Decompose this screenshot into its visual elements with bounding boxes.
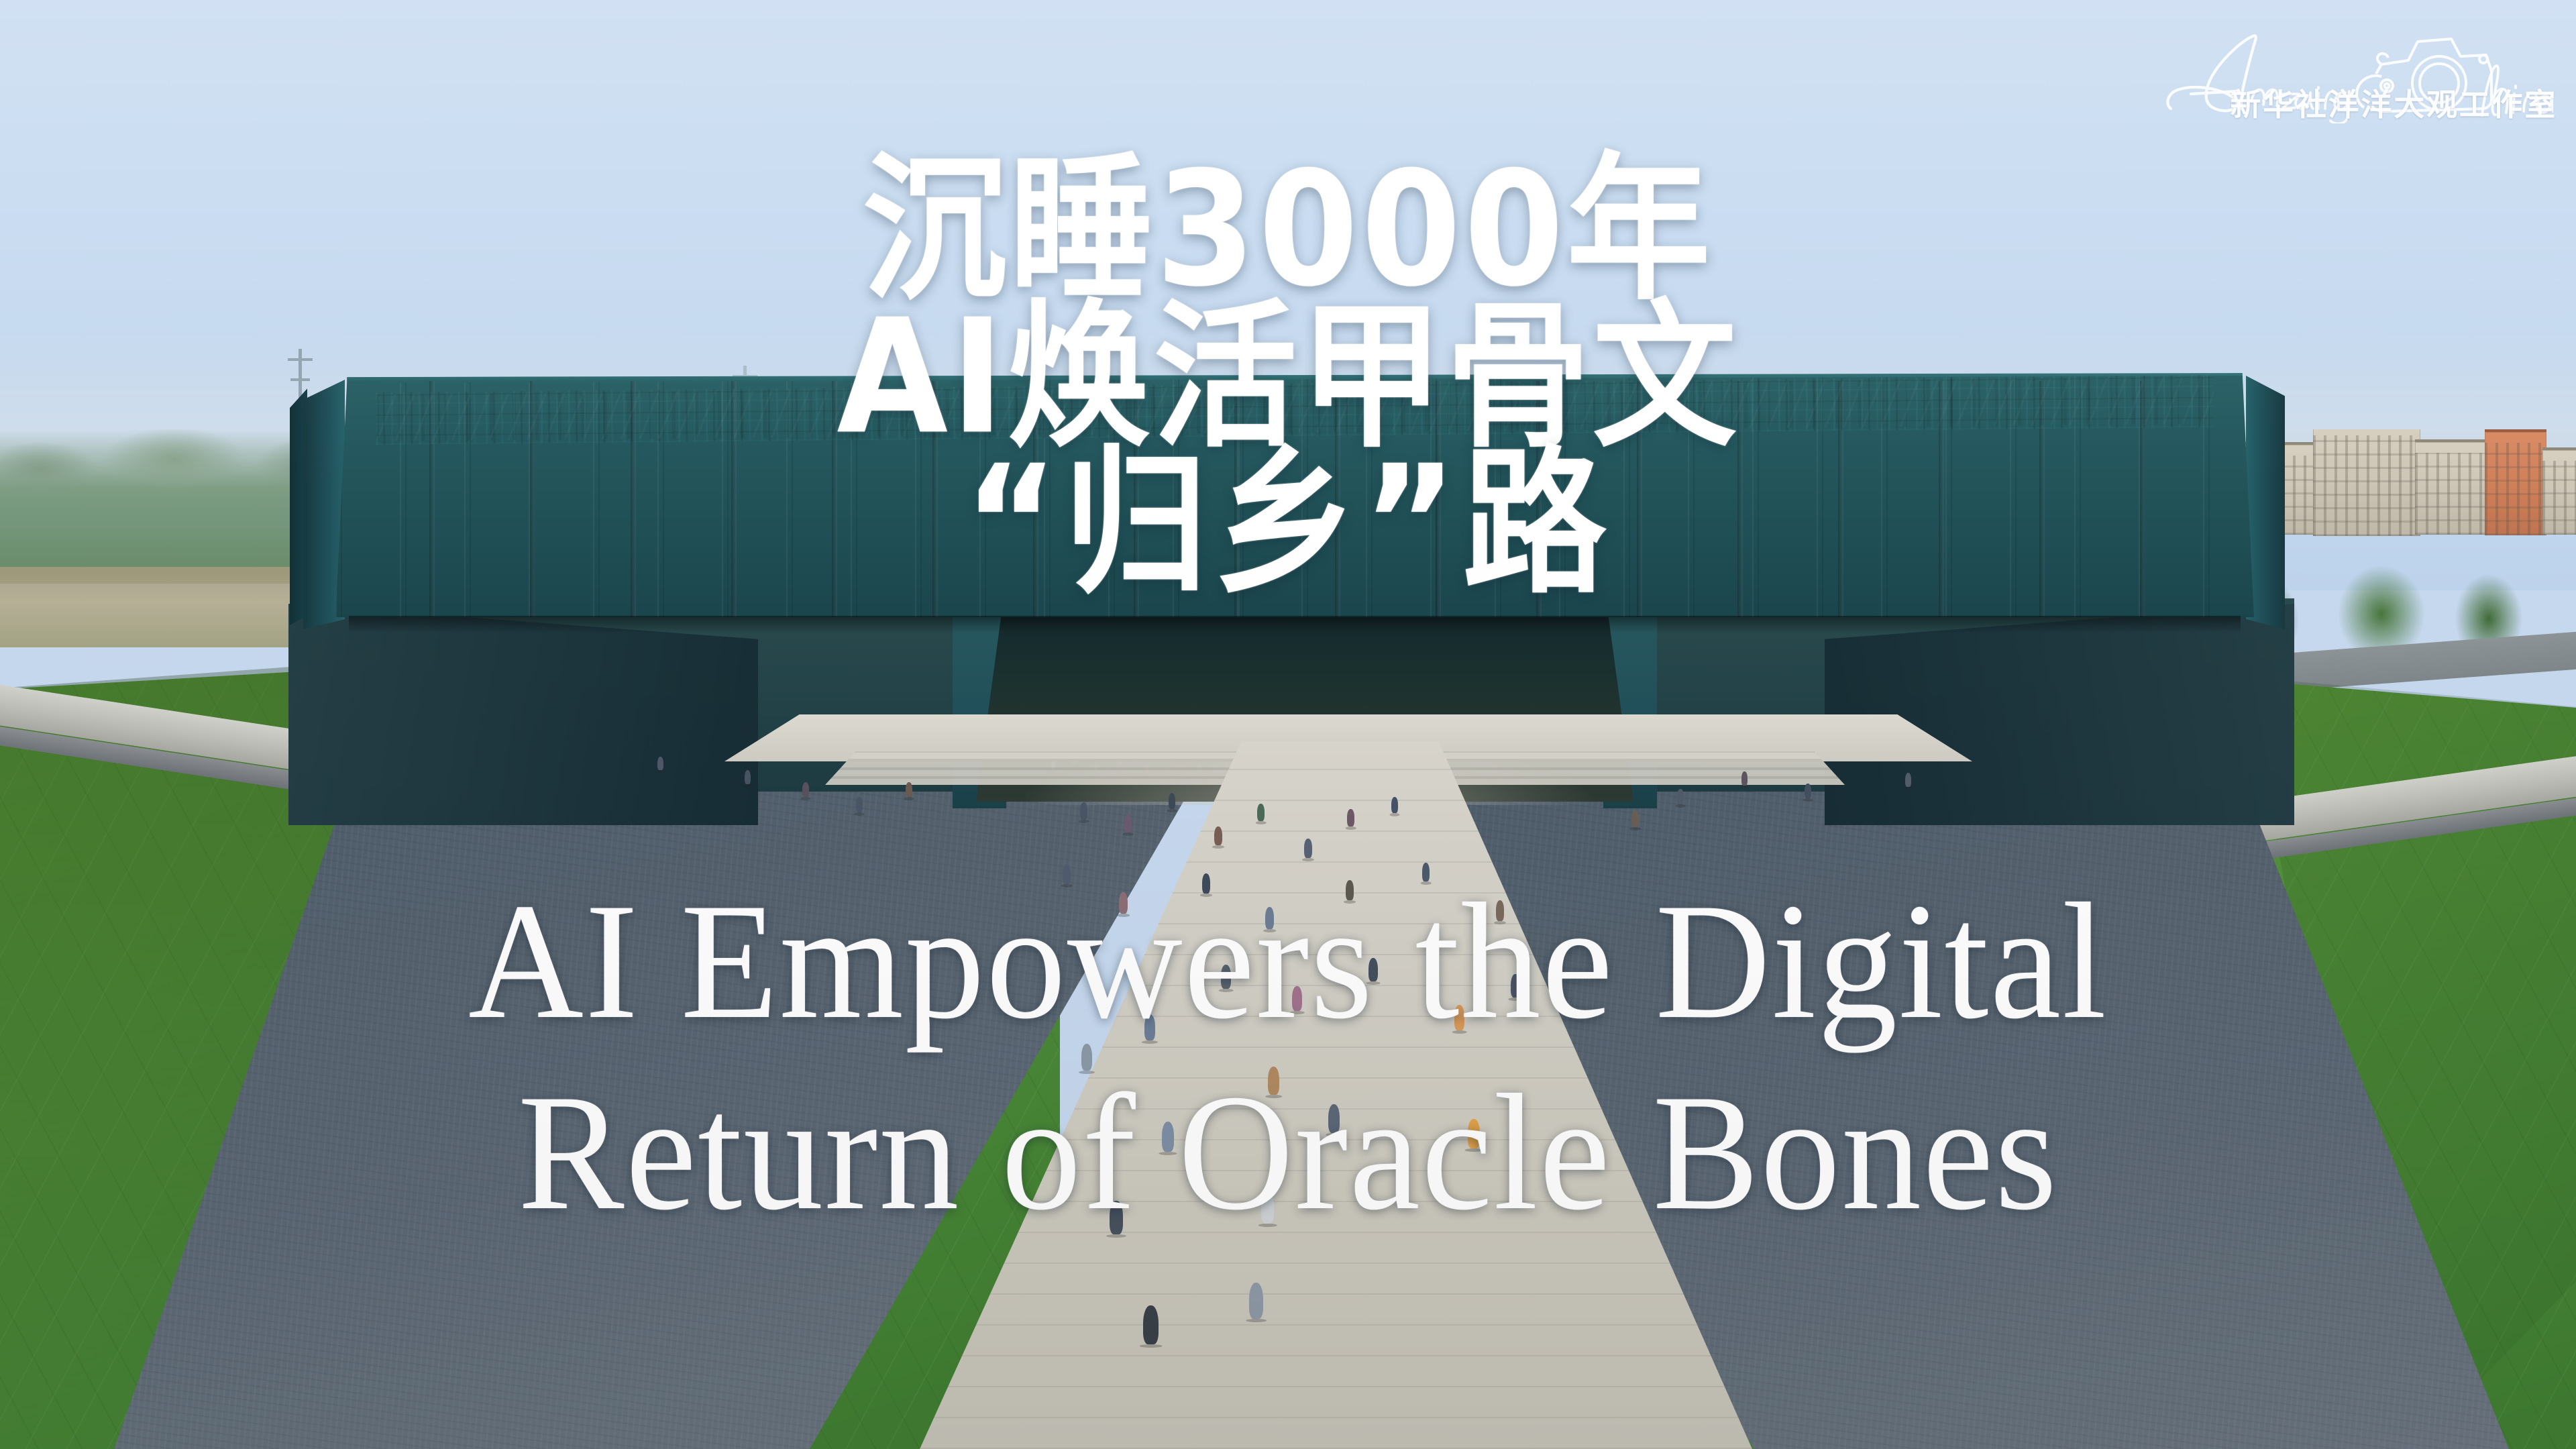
studio-name-label: 新华社洋洋大观工作室 xyxy=(2230,80,2557,125)
visitor xyxy=(1677,789,1684,804)
visitor xyxy=(1214,826,1222,845)
visitor xyxy=(657,757,663,770)
visitor xyxy=(1261,1191,1274,1224)
visitor xyxy=(1304,839,1312,858)
visitor xyxy=(1391,797,1398,813)
visitor xyxy=(1119,892,1128,914)
visitor xyxy=(1169,793,1175,809)
visitor xyxy=(1328,1104,1340,1133)
visitor xyxy=(1249,1283,1263,1319)
visitor xyxy=(1741,771,1748,786)
visitor xyxy=(1346,880,1354,900)
visitor xyxy=(1080,802,1087,820)
visitor xyxy=(1124,814,1132,833)
visitor xyxy=(1268,1067,1279,1095)
visitor xyxy=(1422,863,1430,881)
visitor xyxy=(1063,864,1071,884)
visitor xyxy=(906,782,912,797)
visitor xyxy=(1257,804,1265,821)
visitor xyxy=(1144,1014,1155,1040)
visitor xyxy=(802,782,809,797)
museum-wing-left xyxy=(288,604,758,825)
visitor xyxy=(745,770,751,784)
visitor xyxy=(1368,958,1378,981)
visitor xyxy=(1221,965,1231,989)
visitor xyxy=(856,797,863,812)
visitor xyxy=(1496,900,1504,921)
facade-underside-shadow xyxy=(349,616,2241,633)
visitor xyxy=(1805,784,1811,798)
title-card-stage: 沉睡3000年 AI焕活甲骨文 “归乡”路 AI Empowers the Di… xyxy=(0,0,2576,1449)
visitor xyxy=(1292,986,1302,1011)
visitor xyxy=(1202,873,1210,894)
visitor xyxy=(1347,809,1354,826)
visitor xyxy=(1631,810,1639,827)
visitor xyxy=(1162,1122,1174,1152)
visitor xyxy=(1511,974,1520,998)
visitor xyxy=(1081,1044,1092,1071)
visitor xyxy=(1265,907,1274,929)
visitor xyxy=(1468,1119,1480,1148)
visitor xyxy=(1454,1005,1464,1030)
visitor xyxy=(1143,1305,1159,1344)
visitor xyxy=(1905,773,1911,787)
visitor xyxy=(1110,1201,1123,1234)
